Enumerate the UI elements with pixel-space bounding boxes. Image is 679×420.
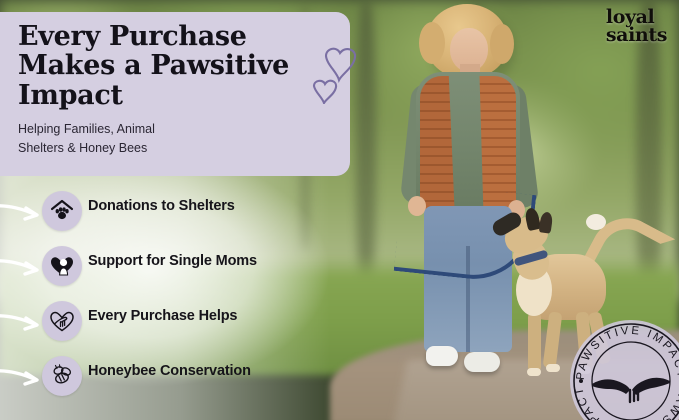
dog-tail-tip <box>586 214 606 230</box>
honeybee-icon <box>42 356 82 396</box>
arrow-icon <box>0 200 42 228</box>
headline-line-2: Makes a Pawsitive <box>18 51 338 80</box>
feature-label: Every Purchase Helps <box>88 308 237 324</box>
subtitle: Helping Families, Animal Shelters & Hone… <box>18 120 308 159</box>
house-paw-icon <box>42 191 82 231</box>
marketing-banner: Every Purchase Makes a Pawsitive Impact … <box>0 0 679 420</box>
list-item: Donations to Shelters <box>0 188 300 243</box>
heart-mother-child-icon <box>42 246 82 286</box>
feature-label: Support for Single Moms <box>88 253 257 269</box>
dog-paw <box>527 368 541 376</box>
arrow-icon <box>0 310 42 338</box>
logo-line-2: saints <box>606 26 667 44</box>
page-title: Every Purchase Makes a Pawsitive Impact <box>18 22 338 110</box>
headline-line-1: Every Purchase <box>18 22 338 51</box>
list-item: Support for Single Moms <box>0 243 300 298</box>
heart-hand-icon <box>42 301 82 341</box>
left-sneaker <box>426 346 458 366</box>
dog-paw <box>546 364 560 372</box>
dog-ear <box>539 211 554 233</box>
pawsitive-impact-stamp: PAWSITIVE IMPACT PAWSITIVE IMPACT <box>568 318 679 420</box>
list-item: Honeybee Conservation <box>0 353 300 408</box>
right-sneaker <box>464 352 500 372</box>
arrow-icon <box>0 255 42 283</box>
dog-leg <box>528 312 541 372</box>
subtitle-line-1: Helping Families, Animal <box>18 120 308 139</box>
arrow-icon <box>0 365 42 393</box>
headline-line-3: Impact <box>18 81 338 110</box>
feature-list: Donations to Shelters Support for Single… <box>0 188 300 408</box>
brand-logo[interactable]: loyal saints <box>606 8 667 44</box>
feature-label: Donations to Shelters <box>88 198 235 214</box>
feature-label: Honeybee Conservation <box>88 363 251 379</box>
list-item: Every Purchase Helps <box>0 298 300 353</box>
subtitle-line-2: Shelters & Honey Bees <box>18 139 308 158</box>
